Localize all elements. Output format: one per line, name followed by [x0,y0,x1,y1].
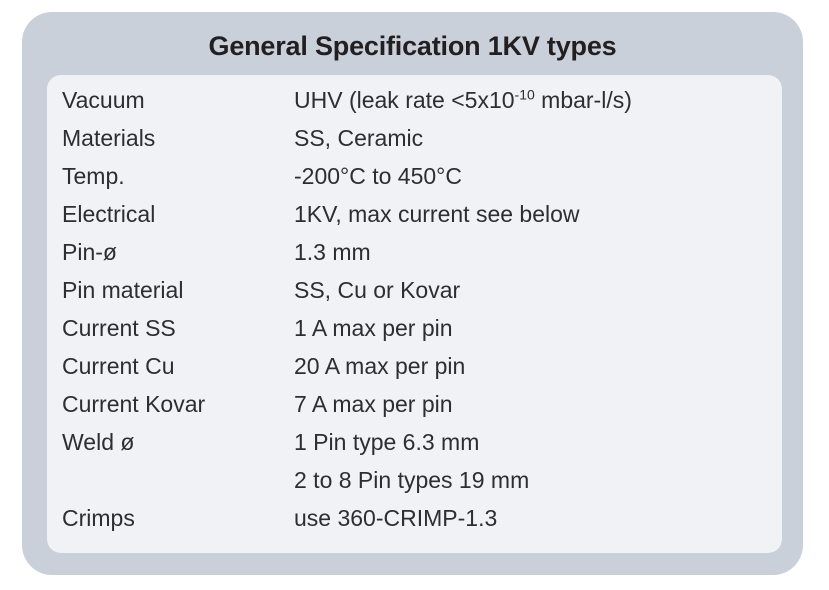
table-row: Pin materialSS, Cu or Kovar [47,277,782,315]
table-row: Electrical1KV, max current see below [47,201,782,239]
spec-value: use 360-CRIMP-1.3 [294,505,782,532]
spec-value: 2 to 8 Pin types 19 mm [294,467,782,494]
table-row: MaterialsSS, Ceramic [47,125,782,163]
spec-label: Pin material [47,277,294,304]
spec-label: Temp. [47,163,294,190]
spec-label: Electrical [47,201,294,228]
spec-value: 1 Pin type 6.3 mm [294,429,782,456]
spec-label: Materials [47,125,294,152]
page-title: General Specification 1KV types [22,31,803,62]
table-row: Temp.-200°C to 450°C [47,163,782,201]
spec-value-suffix: mbar-l/s) [535,87,632,113]
spec-label: Vacuum [47,87,294,114]
spec-label: Current Kovar [47,391,294,418]
spec-value-exponent: -10 [515,86,535,102]
spec-value: SS, Cu or Kovar [294,277,782,304]
spec-label: Current Cu [47,353,294,380]
spec-label: Current SS [47,315,294,342]
table-row: VacuumUHV (leak rate <5x10-10 mbar-l/s) [47,87,782,125]
table-row: Current Kovar7 A max per pin [47,391,782,429]
spec-value: 1 A max per pin [294,315,782,342]
spec-value: 1.3 mm [294,239,782,266]
spec-label: Pin-ø [47,239,294,266]
specification-card: General Specification 1KV types VacuumUH… [22,12,803,575]
spec-value: 20 A max per pin [294,353,782,380]
spec-value: SS, Ceramic [294,125,782,152]
spec-value: UHV (leak rate <5x10-10 mbar-l/s) [294,87,782,114]
spec-value: 7 A max per pin [294,391,782,418]
table-row: Pin-ø1.3 mm [47,239,782,277]
specification-table: VacuumUHV (leak rate <5x10-10 mbar-l/s)M… [47,75,782,553]
spec-value: -200°C to 450°C [294,163,782,190]
table-row: 2 to 8 Pin types 19 mm [47,467,782,505]
spec-value: 1KV, max current see below [294,201,782,228]
table-row: Current Cu20 A max per pin [47,353,782,391]
spec-label: Weld ø [47,429,294,456]
spec-value-prefix: UHV (leak rate <5x10 [294,87,515,113]
table-row: Current SS1 A max per pin [47,315,782,353]
spec-label: Crimps [47,505,294,532]
table-row: Weld ø1 Pin type 6.3 mm [47,429,782,467]
table-row: Crimpsuse 360-CRIMP-1.3 [47,505,782,543]
